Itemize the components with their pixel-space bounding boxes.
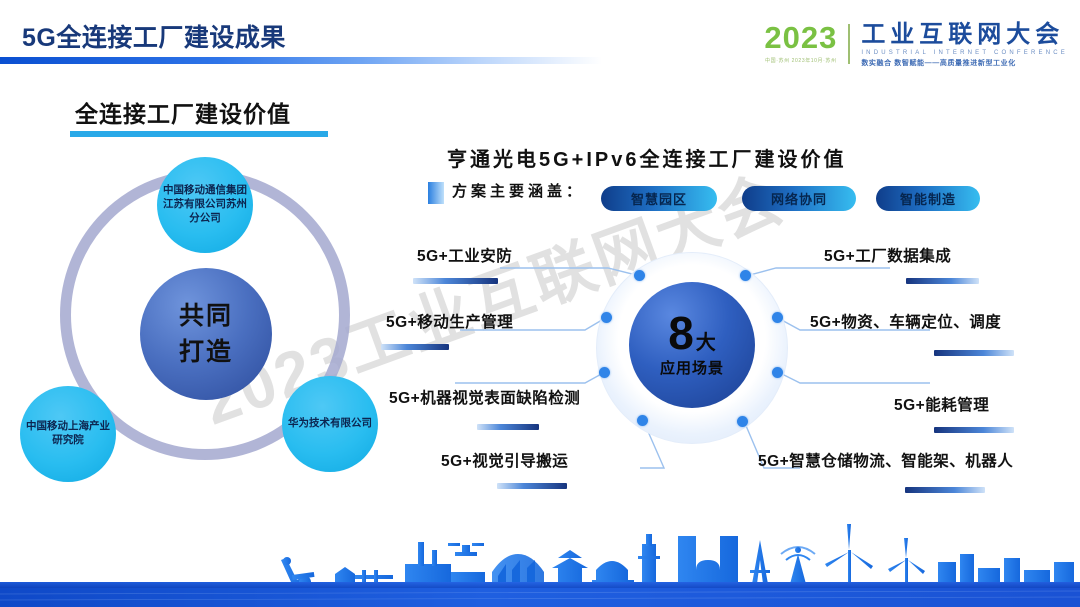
left-section-heading: 全连接工厂建设价值 [75, 95, 291, 129]
scenario-left-4: 5G+视觉引导搬运 [441, 452, 568, 472]
scheme-pill-2[interactable]: 网络协同 [742, 186, 856, 211]
logo-year-block: 2023 中国·苏州 2023年10月·苏州 [764, 22, 848, 64]
hub-dot-3 [599, 367, 610, 378]
logo-name-cn: 工业互联网大会 [861, 22, 1068, 47]
scenario-right-2: 5G+物资、车辆定位、调度 [810, 313, 1001, 333]
logo-slogan: 数实融合 数智赋能——高质量推进新型工业化 [861, 58, 1068, 68]
partner-node-bottom-left: 中国移动上海产业研究院 [20, 386, 116, 482]
title-underline-bar [0, 57, 482, 64]
scenario-right-1: 5G+工厂数据集成 [824, 247, 951, 267]
page-title: 5G全连接工厂建设成果 [22, 18, 286, 54]
hub-dot-4 [637, 415, 648, 426]
hub-number-unit: 大 [696, 332, 716, 354]
scenario-left-4-bar [497, 483, 567, 489]
scheme-marker-bar [428, 182, 444, 204]
venn-center-circle: 共同 打造 [140, 268, 272, 400]
left-heading-underline [70, 131, 328, 137]
title-underline-fade [482, 57, 602, 64]
hub-dot-7 [772, 367, 783, 378]
hub-core-circle: 8大 应用场景 [629, 282, 755, 408]
scenario-left-3-bar [477, 424, 539, 430]
logo-name-en: INDUSTRIAL INTERNET CONFERENCE [861, 50, 1068, 56]
logo-year-number: 2023 [764, 22, 837, 53]
hub-subtitle: 应用场景 [660, 357, 724, 378]
scenario-right-3: 5G+能耗管理 [894, 396, 989, 416]
hub-number: 8大 [668, 312, 716, 354]
hub-dot-1 [634, 270, 645, 281]
application-hub: 8大 应用场景 [596, 252, 788, 444]
scenario-left-2-bar [381, 344, 449, 350]
conference-logo: 2023 中国·苏州 2023年10月·苏州 工业互联网大会 INDUSTRIA… [764, 22, 1068, 68]
logo-name-block: 工业互联网大会 INDUSTRIAL INTERNET CONFERENCE 数… [850, 22, 1068, 68]
hub-dot-6 [772, 312, 783, 323]
scenario-left-1-bar [413, 278, 498, 284]
scheme-pill-1-label: 智慧园区 [631, 189, 687, 208]
partner-node-top: 中国移动通信集团江苏有限公司苏州分公司 [157, 157, 253, 253]
hub-dot-5 [740, 270, 751, 281]
logo-year-subtext: 中国·苏州 2023年10月·苏州 [765, 57, 837, 64]
partnership-venn-diagram: 共同 打造 中国移动通信集团江苏有限公司苏州分公司 中国移动上海产业研究院 华为… [18, 160, 388, 520]
scenario-right-1-bar [906, 278, 979, 284]
hub-number-value: 8 [668, 307, 694, 359]
city-skyline-graphic [0, 512, 1080, 607]
skyline-silhouettes [281, 524, 1074, 590]
slide-canvas: 5G全连接工厂建设成果 2023 中国·苏州 2023年10月·苏州 工业互联网… [0, 0, 1080, 607]
scheme-coverage-label: 方案主要涵盖： [452, 181, 585, 203]
hub-dot-2 [601, 312, 612, 323]
scenario-right-4-bar [905, 487, 985, 493]
scenario-left-3: 5G+机器视觉表面缺陷检测 [389, 389, 589, 409]
scenario-right-3-bar [934, 427, 1014, 433]
scheme-pill-3-label: 智能制造 [900, 189, 956, 208]
scenario-left-2: 5G+移动生产管理 [386, 313, 513, 333]
venn-center-line2: 打造 [179, 334, 233, 370]
partner-node-bottom-right: 华为技术有限公司 [282, 376, 378, 472]
venn-center-line1: 共同 [179, 298, 233, 334]
scheme-pill-2-label: 网络协同 [771, 189, 827, 208]
scheme-pill-3[interactable]: 智能制造 [876, 186, 980, 211]
right-section-title: 亨通光电5G+IPv6全连接工厂建设价值 [447, 143, 847, 172]
scheme-pill-1[interactable]: 智慧园区 [601, 186, 717, 211]
scenario-left-1: 5G+工业安防 [417, 247, 512, 267]
scenario-right-4: 5G+智慧仓储物流、智能架、机器人 [758, 452, 1013, 472]
hub-dot-8 [737, 416, 748, 427]
scenario-right-2-bar [934, 350, 1014, 356]
